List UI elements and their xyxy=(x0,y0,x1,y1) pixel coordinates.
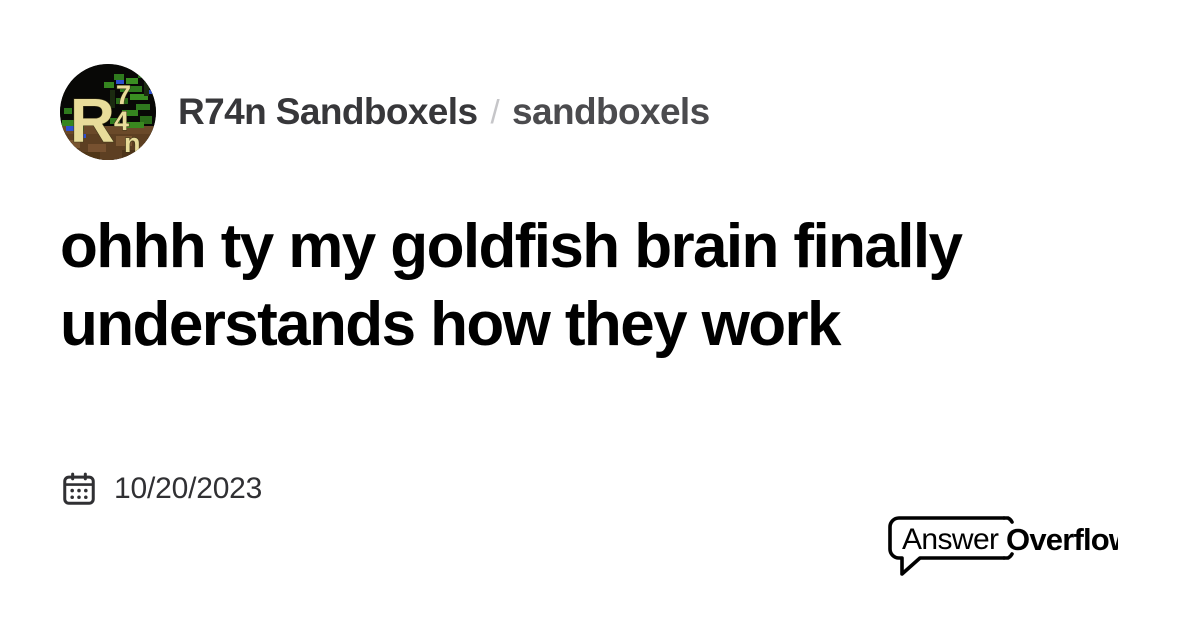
server-name[interactable]: R74n Sandboxels xyxy=(178,91,477,133)
answer-overflow-logo-mark: Answer Overflow xyxy=(886,514,1118,578)
svg-text:R: R xyxy=(70,87,114,156)
logo-text-overflow: Overflow xyxy=(1006,522,1118,557)
breadcrumb-text: R74n Sandboxels / sandboxels xyxy=(178,91,710,133)
page-title: ohhh ty my goldfish brain finally unders… xyxy=(60,208,1070,364)
avatar: R 7 4 n xyxy=(60,64,156,160)
answer-overflow-logo: Answer Overflow xyxy=(886,514,1118,578)
breadcrumb-separator: / xyxy=(490,93,499,131)
post-date: 10/20/2023 xyxy=(60,470,1140,508)
breadcrumb: R 7 4 n R74n Sandboxels / sandboxels xyxy=(60,64,1140,160)
calendar-icon xyxy=(60,470,98,508)
date-text: 10/20/2023 xyxy=(114,472,262,506)
og-card: R 7 4 n R74n Sandboxels / sandboxels ohh… xyxy=(0,0,1200,630)
r74n-pixel-avatar-image: R 7 4 n xyxy=(60,64,156,160)
logo-text-answer: Answer xyxy=(902,523,999,556)
svg-text:n: n xyxy=(124,128,141,158)
channel-name[interactable]: sandboxels xyxy=(512,91,710,133)
